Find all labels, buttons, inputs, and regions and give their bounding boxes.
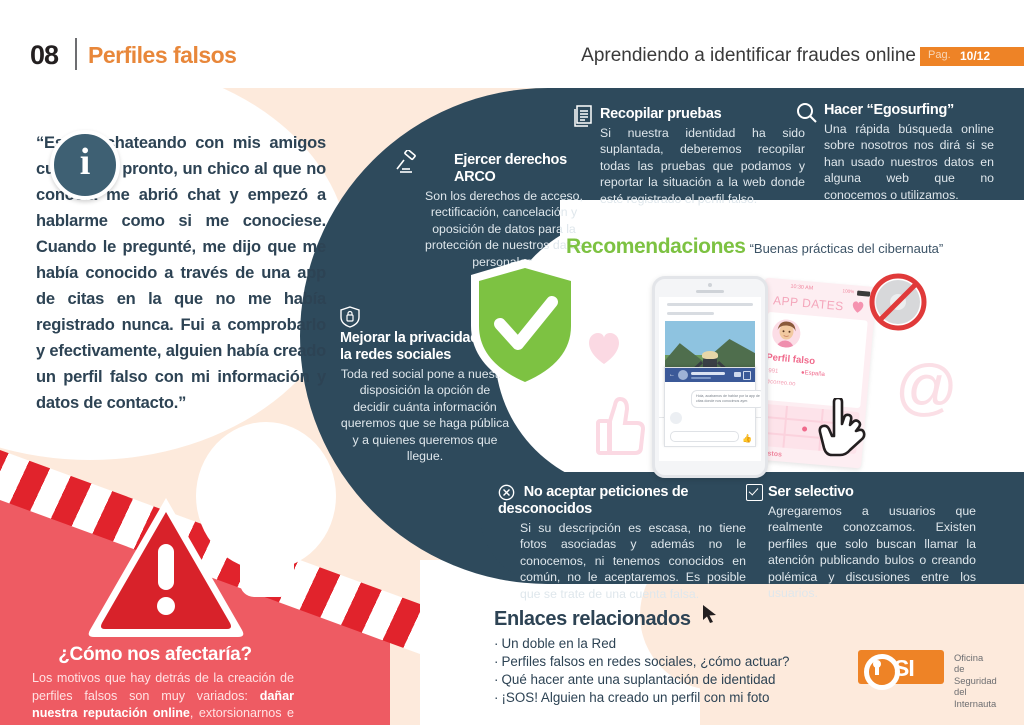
lock-shield-icon [340, 306, 360, 328]
chat-message-avatar [670, 412, 682, 424]
card-title: Hacer “Egosurfing” [824, 102, 994, 119]
impact-body: Los motivos que hay detrás de la creació… [32, 670, 294, 725]
card-title: Ser selectivo [768, 484, 976, 501]
section-number: 08 [30, 40, 58, 71]
recomendaciones-title: Recomendaciones [566, 235, 746, 258]
info-icon: i [50, 130, 120, 200]
map-marker [802, 427, 807, 432]
card-ejercer-derechos-arco: Ejercer derechos ARCO Son los derechos d… [424, 152, 584, 270]
video-call-icon[interactable] [734, 372, 741, 377]
card-body: Agregaremos a usuarios que realmente con… [768, 503, 976, 601]
search-icon [794, 100, 820, 126]
chat-header: ← [665, 368, 755, 382]
status-time: 10:30 AM [790, 284, 813, 292]
osi-logo-mark: SI [858, 650, 944, 684]
dating-app-name: APP DATES [773, 293, 845, 313]
page-title: Perfiles falsos [88, 42, 236, 69]
card-body: Si nuestra identidad ha sido suplantada,… [600, 125, 805, 207]
list-item[interactable]: ¡SOS! Alguien ha creado un perfil con mi… [494, 689, 790, 707]
impact-heading: ¿Cómo nos afectaría? [0, 644, 310, 666]
post-line [667, 312, 714, 315]
lightbulb-stem [240, 557, 294, 597]
chat-contact-status [691, 377, 711, 379]
page-badge-label: Pag. [928, 49, 951, 61]
card-title: No aceptar peticiones de desconocidos [498, 484, 746, 518]
osi-tagline-line-2: de Seguridad [954, 663, 997, 686]
heart-icon [584, 330, 624, 366]
status-battery-pct: 100% [842, 288, 854, 294]
x-circle-icon [498, 484, 515, 501]
back-arrow-icon[interactable]: ← [669, 372, 675, 378]
phone-screen: ← Hola, acabamos de hablar por la app de… [659, 297, 761, 461]
chat-avatar [678, 370, 688, 380]
page-badge-value: 10/12 [960, 49, 990, 63]
phone-mockup: ← Hola, acabamos de hablar por la app de… [652, 276, 768, 478]
chat-input[interactable] [670, 431, 739, 442]
card-title: Recopilar pruebas [600, 106, 805, 123]
phone-speaker [696, 290, 724, 293]
card-recopilar-pruebas: Recopilar pruebas Si nuestra identidad h… [600, 106, 805, 207]
phone-camera [708, 283, 712, 287]
recomendaciones-heading: Recomendaciones“Buenas prácticas del cib… [566, 235, 943, 259]
at-symbol-decoration: @ [895, 352, 958, 423]
card-no-aceptar-peticiones: No aceptar peticiones de desconocidos Si… [498, 484, 746, 602]
list-item[interactable]: Qué hacer ante una suplantación de ident… [494, 671, 790, 689]
prohibited-icon [866, 270, 930, 334]
map-road [782, 406, 788, 448]
card-title-text: No aceptar peticiones de desconocidos [498, 484, 688, 517]
impact-banner: ¿Cómo nos afectaría? Los motivos que hay… [0, 392, 430, 725]
related-links-heading: Enlaces relacionados [494, 608, 691, 631]
header-divider [75, 38, 77, 70]
infographic-page: 08 Perfiles falsos Aprendiendo a identif… [0, 0, 1024, 725]
recomendaciones-subtitle: “Buenas prácticas del cibernauta” [750, 241, 944, 256]
list-item[interactable]: Un doble en la Red [494, 635, 790, 653]
thumbs-up-icon [595, 395, 647, 457]
heart-icon [850, 300, 865, 314]
checkbox-icon [746, 484, 763, 501]
card-title: Ejercer derechos ARCO [424, 152, 584, 186]
osi-logo-tagline: Oficina de Seguridad del Internauta [954, 652, 997, 709]
gavel-icon [394, 150, 420, 176]
documents-icon [570, 104, 596, 130]
card-hacer-egosurfing: Hacer “Egosurfing” Una rápida búsqueda o… [824, 102, 994, 203]
card-body: Si su descripción es escasa, no tiene fo… [498, 520, 746, 602]
keyhole-stem [875, 666, 879, 675]
card-title-text: Recopilar pruebas [600, 106, 721, 122]
pointing-hand-cursor-icon [818, 398, 866, 460]
card-body: Una rápida búsqueda online sobre nosotro… [824, 121, 994, 203]
related-links-block: Enlaces relacionados Un doble en la Red … [494, 604, 790, 707]
warning-triangle-icon [86, 492, 246, 637]
thumb-send-icon[interactable]: 👍 [742, 434, 752, 443]
chat-contact-name [691, 372, 725, 375]
card-ser-selectivo: Ser selectivo Agregaremos a usuarios que… [768, 484, 976, 601]
info-circle-icon[interactable] [743, 371, 751, 380]
shield-check-icon [466, 256, 584, 394]
osi-logo-text: SI [894, 655, 914, 682]
page-header: 08 Perfiles falsos Aprendiendo a identif… [0, 0, 1024, 88]
page-badge: Pag. 10/12 [920, 47, 1024, 66]
related-links-list: Un doble en la Red Perfiles falsos en re… [494, 635, 790, 707]
header-subtitle: Aprendiendo a identificar fraudes online [581, 45, 916, 67]
chat-message-bubble: Hola, acabamos de hablar por la app de c… [691, 390, 761, 408]
card-title-text: Ejercer derechos ARCO [454, 152, 567, 185]
list-item[interactable]: Perfiles falsos en redes sociales, ¿cómo… [494, 653, 790, 671]
cursor-arrow-icon [701, 604, 718, 623]
photo-hat [702, 351, 718, 359]
osi-tagline-line-1: Oficina [954, 652, 997, 663]
osi-tagline-line-3: del Internauta [954, 686, 997, 709]
chat-window: ← Hola, acabamos de hablar por la app de… [664, 367, 756, 447]
card-title-text: Hacer “Egosurfing” [824, 102, 954, 118]
post-line [667, 303, 753, 306]
impact-text-1: Los motivos que hay detrás de la creació… [32, 671, 294, 703]
